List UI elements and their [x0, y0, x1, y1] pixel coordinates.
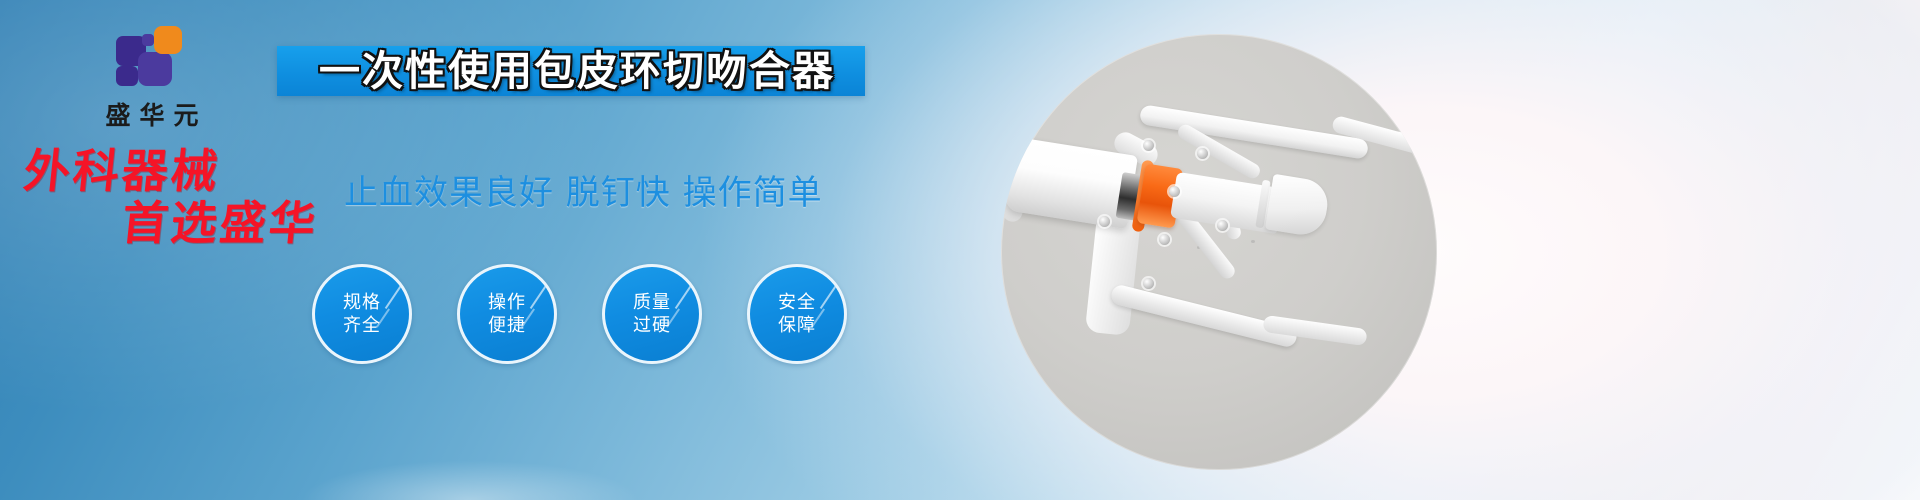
backdrop-speckle [1251, 240, 1255, 243]
feature-badge-label-bottom: 保障 [778, 314, 816, 337]
feature-badge-list: 规格 齐全 操作 便捷 质量 过硬 安全 保障 [312, 264, 847, 364]
product-rivet [1143, 278, 1154, 289]
product-upper-arm [1139, 104, 1369, 160]
feature-badge-3[interactable]: 质量 过硬 [602, 264, 702, 364]
product-rivet [1099, 216, 1110, 227]
feature-badge-label-bottom: 便捷 [488, 314, 526, 337]
feature-badge-label-top: 操作 [488, 291, 526, 314]
promo-banner: 盛华元 外科器械 首选盛华 一次性使用包皮环切吻合器 止血效果良好 脱钉快 操作… [0, 0, 1920, 500]
page-title: 一次性使用包皮环切吻合器 [292, 44, 862, 98]
slogan-line-1: 外科器械 [22, 148, 351, 194]
logo-mark-icon [116, 26, 188, 88]
red-slogan: 外科器械 首选盛华 [18, 148, 348, 246]
product-rivet [1197, 148, 1208, 159]
feature-badge-label-top: 规格 [343, 291, 381, 314]
feature-badge-2[interactable]: 操作 便捷 [457, 264, 557, 364]
slash-accent-icon [530, 283, 548, 309]
brand-logo[interactable]: 盛华元 [62, 26, 242, 132]
logo-square-purple-4 [142, 34, 154, 46]
logo-square-purple-3 [116, 66, 138, 86]
feature-badge-label-bottom: 过硬 [633, 314, 671, 337]
slash-accent-icon [385, 283, 403, 309]
feature-badge-label-top: 安全 [778, 291, 816, 314]
product-rivet [1217, 220, 1228, 231]
product-rivet [1169, 186, 1180, 197]
subtitle: 止血效果良好 脱钉快 操作简单 [344, 165, 823, 214]
feature-badge-label-bottom: 齐全 [343, 314, 381, 337]
product-lower-arm [1085, 212, 1141, 336]
feature-badge-4[interactable]: 安全 保障 [747, 264, 847, 364]
slogan-line-2: 首选盛华 [120, 200, 351, 246]
feature-badge-1[interactable]: 规格 齐全 [312, 264, 412, 364]
feature-badge-label-top: 质量 [633, 291, 671, 314]
brand-name: 盛华元 [62, 96, 242, 132]
product-photo-circumcision-stapler [1001, 34, 1437, 470]
product-rivet [1159, 234, 1170, 245]
product-rivet [1143, 140, 1154, 151]
bottom-glow-decoration [300, 460, 640, 500]
logo-square-purple-2 [138, 52, 172, 86]
slash-accent-icon [675, 283, 693, 309]
product-cone-tip [1265, 174, 1331, 238]
slash-accent-icon [820, 283, 838, 309]
logo-square-orange [154, 26, 182, 54]
